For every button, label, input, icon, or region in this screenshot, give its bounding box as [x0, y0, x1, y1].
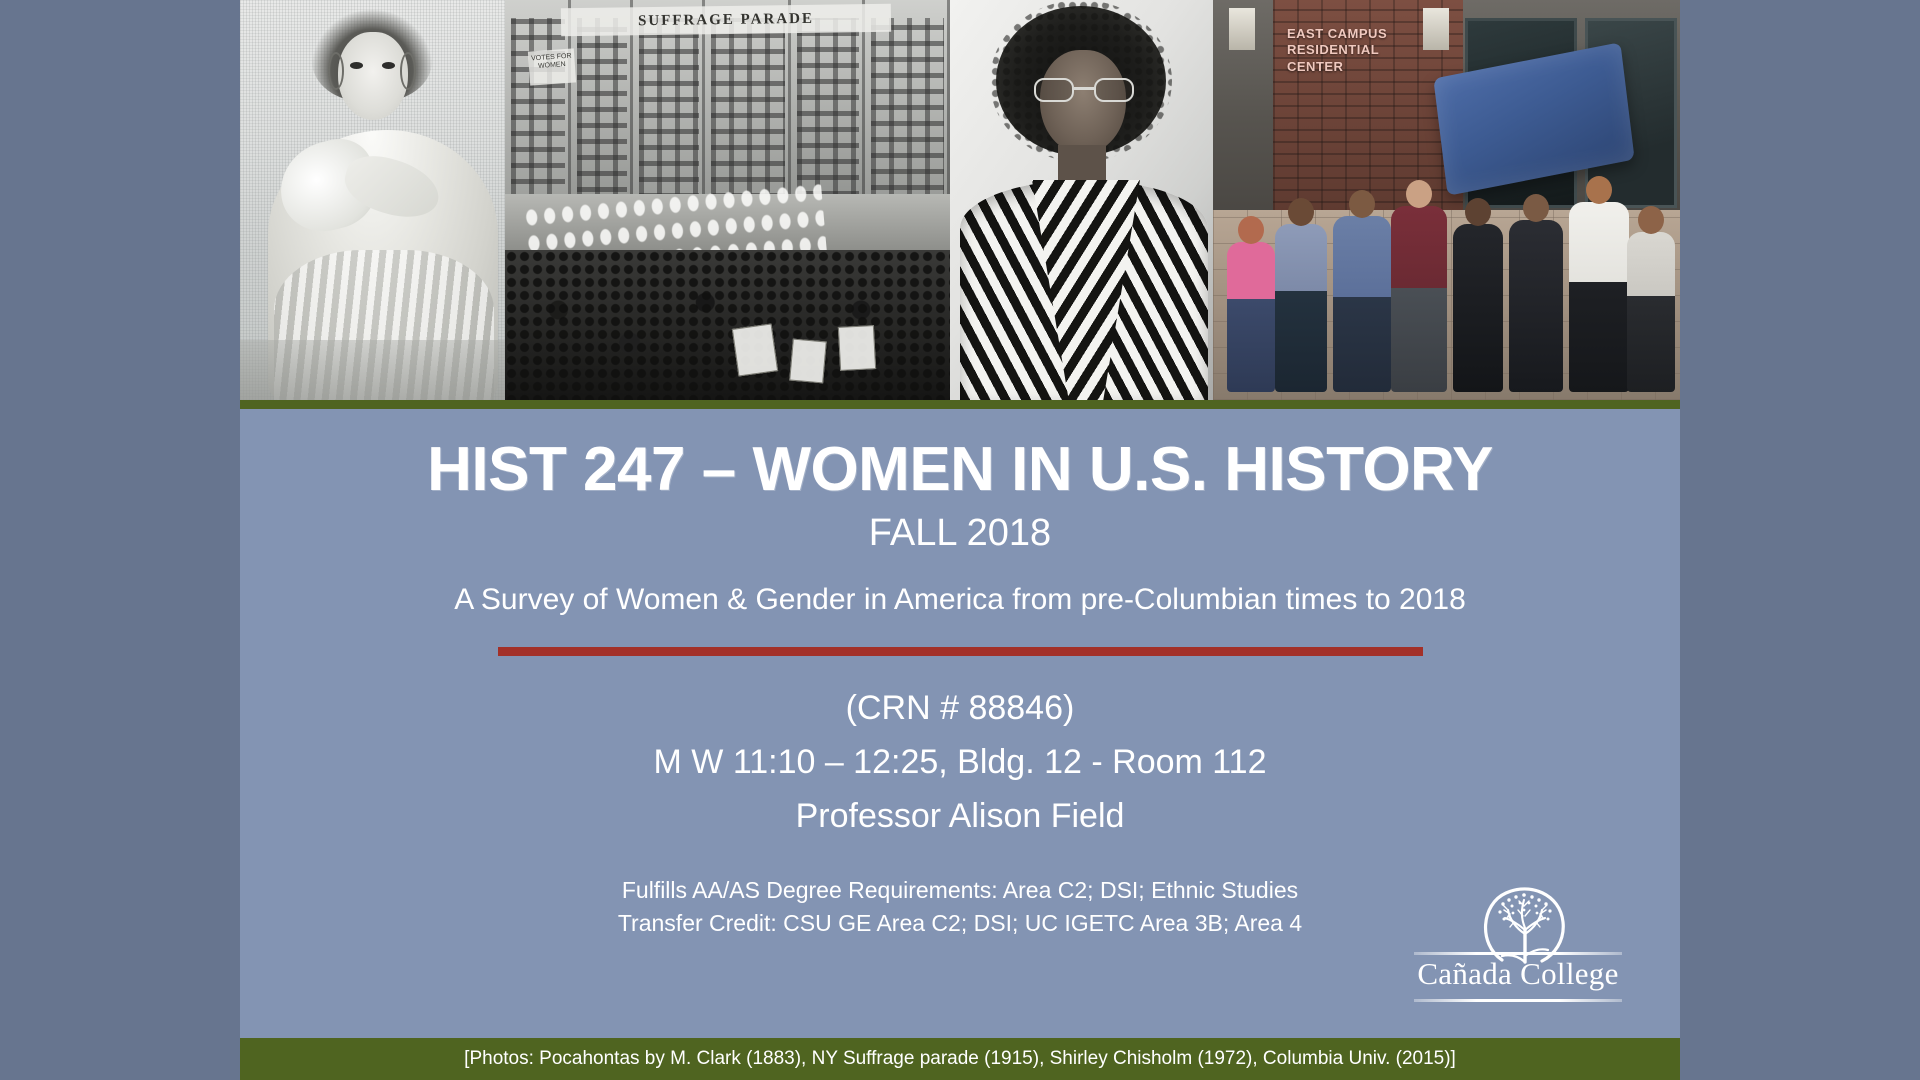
marcher-1-head	[1238, 216, 1264, 244]
parade-placard-2	[789, 339, 827, 384]
degree-requirements: Fulfills AA/AS Degree Requirements: Area…	[622, 874, 1298, 907]
marcher-7	[1569, 202, 1629, 392]
marcher-4	[1391, 206, 1447, 392]
pocahontas-earring-right	[400, 52, 416, 90]
photo-columbia-university-march: EAST CAMPUS RESIDENTIAL CENTER	[1213, 0, 1680, 400]
course-details: (CRN # 88846) M W 11:10 – 12:25, Bldg. 1…	[654, 686, 1267, 840]
pocahontas-earring-left	[328, 52, 344, 90]
marcher-3-head	[1349, 190, 1375, 218]
eyeglass-lens-left	[1034, 78, 1074, 102]
photo-shirley-chisholm	[950, 0, 1213, 400]
marcher-8	[1627, 232, 1675, 392]
course-crn: (CRN # 88846)	[846, 686, 1075, 732]
parade-placard-1	[732, 323, 778, 376]
red-divider-rule	[498, 647, 1423, 656]
marcher-6	[1509, 220, 1563, 392]
marcher-6-head	[1523, 194, 1549, 222]
marcher-2-head	[1288, 198, 1314, 226]
flyer-panel: Pocahontas SUFFRAGE PARADE VOTES FOR WOM…	[240, 0, 1680, 1080]
photo-ny-suffrage-parade: SUFFRAGE PARADE VOTES FOR WOMEN	[505, 0, 950, 400]
pocahontas-ground	[240, 340, 505, 400]
marcher-1	[1227, 242, 1275, 392]
photo-credit-text: [Photos: Pocahontas by M. Clark (1883), …	[464, 1048, 1456, 1070]
flyer-content: HIST 247 – WOMEN IN U.S. HISTORY FALL 20…	[240, 409, 1680, 1038]
pocahontas-eye-right	[382, 62, 395, 69]
marcher-7-head	[1586, 176, 1612, 204]
marcher-5-head	[1465, 198, 1491, 226]
eyeglasses-icon	[1034, 78, 1134, 102]
pocahontas-face	[338, 32, 408, 120]
marcher-2	[1275, 224, 1327, 392]
footer-bar: [Photos: Pocahontas by M. Clark (1883), …	[240, 1038, 1680, 1080]
canada-college-logo: Cañada College	[1414, 890, 1622, 1002]
chisholm-face	[1040, 50, 1126, 154]
marcher-8-head	[1638, 206, 1664, 234]
east-campus-sign: EAST CAMPUS RESIDENTIAL CENTER	[1287, 26, 1407, 96]
chisholm-striped-blouse	[960, 180, 1208, 400]
green-divider-rule	[240, 400, 1680, 409]
parade-banner-text: SUFFRAGE PARADE	[561, 4, 891, 37]
photo-strip: Pocahontas SUFFRAGE PARADE VOTES FOR WOM…	[240, 0, 1680, 400]
course-title: HIST 247 – WOMEN IN U.S. HISTORY	[427, 437, 1493, 502]
pocahontas-eye-left	[350, 62, 363, 69]
course-meeting-time-location: M W 11:10 – 12:25, Bldg. 12 - Room 112	[654, 740, 1267, 786]
logo-wordmark: Cañada College	[1414, 956, 1622, 992]
parade-crowd	[505, 250, 950, 400]
photo-pocahontas-engraving: Pocahontas	[240, 0, 505, 400]
transfer-credit: Transfer Credit: CSU GE Area C2; DSI; UC…	[618, 907, 1302, 940]
marcher-5	[1453, 224, 1503, 392]
slide-canvas: Pocahontas SUFFRAGE PARADE VOTES FOR WOM…	[0, 0, 1920, 1080]
parade-placard-3	[838, 325, 876, 371]
campus-lamp-right	[1423, 8, 1449, 50]
course-requirements: Fulfills AA/AS Degree Requirements: Area…	[618, 874, 1302, 941]
oak-tree-icon	[1480, 886, 1566, 964]
marcher-3	[1333, 216, 1391, 392]
course-tagline: A Survey of Women & Gender in America fr…	[454, 583, 1466, 617]
course-instructor: Professor Alison Field	[796, 794, 1125, 840]
marcher-4-head	[1406, 180, 1432, 208]
logo-rule-bottom	[1414, 999, 1622, 1002]
votes-for-women-sign: VOTES FOR WOMEN	[528, 48, 576, 85]
campus-lamp-left	[1229, 8, 1255, 50]
course-term: FALL 2018	[869, 512, 1051, 555]
eyeglass-bridge	[1074, 87, 1094, 90]
eyeglass-lens-right	[1094, 78, 1134, 102]
